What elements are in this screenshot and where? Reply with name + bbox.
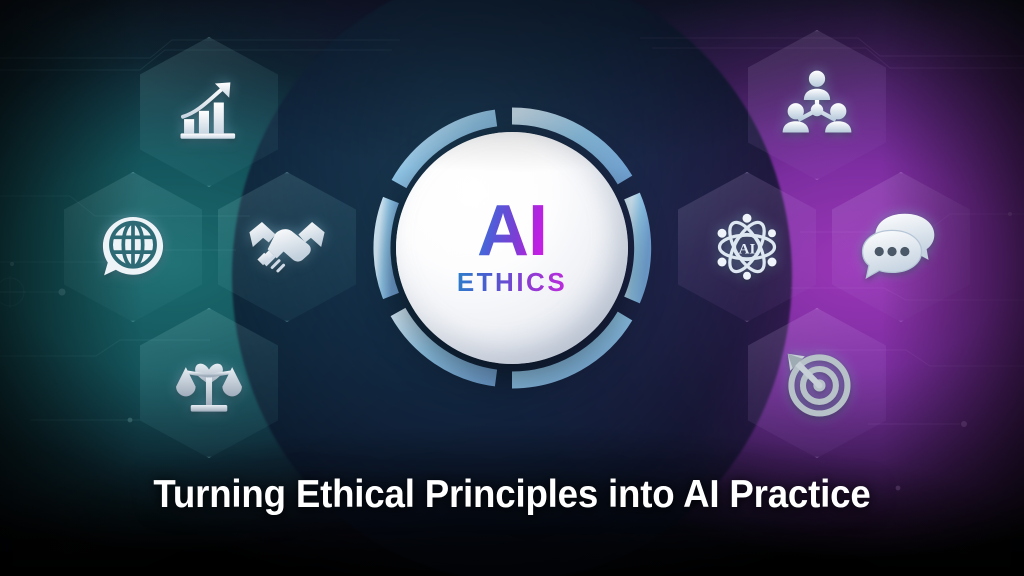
scales-heart-icon [170, 344, 248, 422]
page-title: Turning Ethical Principles into AI Pract… [31, 473, 994, 517]
growth-chart-icon [171, 74, 247, 150]
target-dart-icon [778, 344, 856, 422]
atom-ai-icon: AI [707, 207, 787, 287]
globe-speech-bubble-icon [96, 210, 170, 284]
chat-bubbles-icon [860, 206, 942, 288]
team-network-icon [777, 65, 857, 145]
ai-ethics-infographic: AI [0, 0, 1024, 576]
handshake-icon [246, 206, 328, 288]
atom-ai-label: AI [739, 241, 756, 257]
